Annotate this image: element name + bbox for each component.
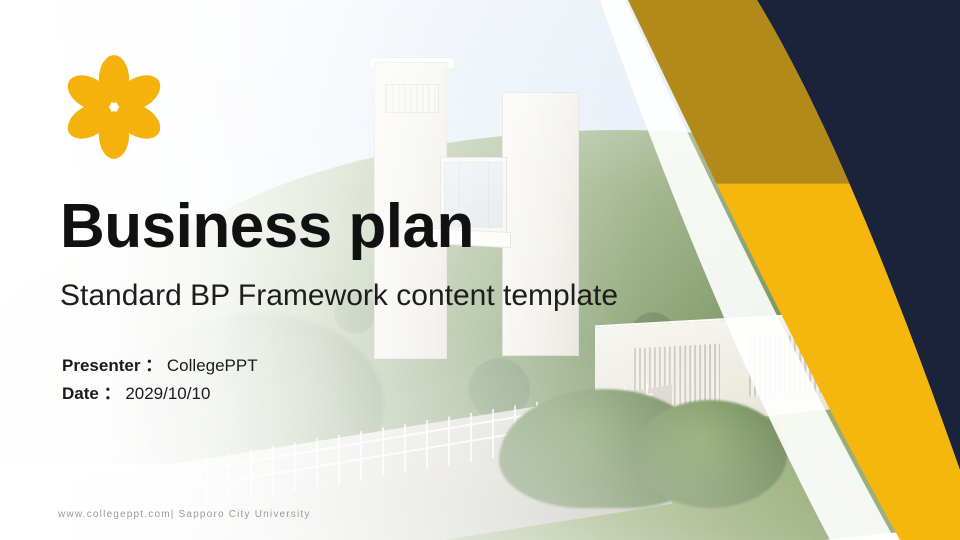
flower-center bbox=[110, 103, 117, 110]
slide-title: Business plan bbox=[60, 196, 474, 258]
presentation-slide: Business plan Standard BP Framework cont… bbox=[0, 0, 960, 540]
presenter-value: CollegePPT bbox=[167, 356, 258, 375]
date-label: Date ： bbox=[62, 384, 121, 403]
slide-meta: Presenter ： CollegePPT Date ： 2029/10/10 bbox=[62, 352, 258, 407]
presenter-row: Presenter ： CollegePPT bbox=[62, 352, 258, 380]
presenter-label: Presenter ： bbox=[62, 356, 162, 375]
footer-credit: www.collegeppt.com| Sapporo City Univers… bbox=[58, 509, 311, 520]
date-value: 2029/10/10 bbox=[125, 384, 210, 403]
six-petal-flower-logo bbox=[60, 52, 168, 162]
slide-subtitle: Standard BP Framework content template bbox=[60, 279, 618, 312]
date-row: Date ： 2029/10/10 bbox=[62, 380, 258, 408]
